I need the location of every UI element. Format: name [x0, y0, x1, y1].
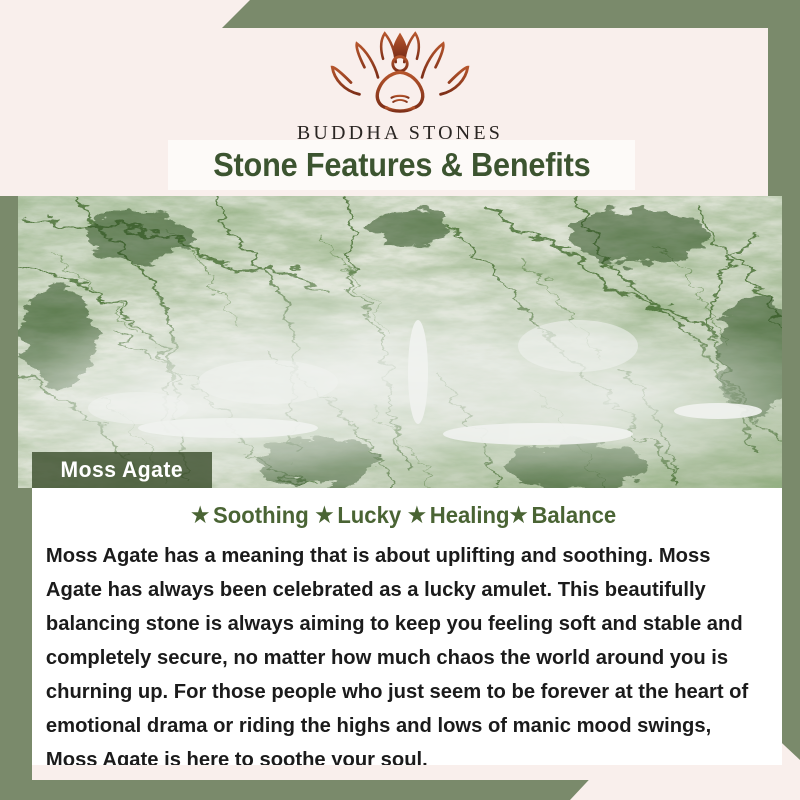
- star-icon: ★: [315, 505, 333, 526]
- feature-soothing-label: Soothing: [213, 502, 309, 529]
- star-icon: ★: [510, 505, 528, 526]
- stone-name-ribbon: Moss Agate: [32, 452, 212, 488]
- feature-healing-label: Healing: [430, 502, 510, 529]
- title-banner: Stone Features & Benefits: [168, 140, 635, 190]
- stone-description-text: Moss Agate has a meaning that is about u…: [40, 539, 763, 777]
- page-title: Stone Features & Benefits: [213, 146, 590, 184]
- features-row: ★ Soothing ★ Lucky ★ Healing ★ Balance: [55, 502, 760, 529]
- star-icon: ★: [191, 505, 209, 526]
- brand-header: BUDDHA STONES: [0, 30, 800, 145]
- moss-agate-stone-photo: [18, 196, 782, 488]
- decorative-band-top-right: [220, 0, 800, 30]
- feature-lucky-label: Lucky: [337, 502, 401, 529]
- infographic-page: BUDDHA STONES Stone Features & Benefits: [0, 0, 800, 800]
- feature-balance-label: Balance: [531, 502, 616, 529]
- stone-name-label: Moss Agate: [61, 457, 184, 483]
- lotus-meditation-icon: [315, 30, 485, 118]
- star-icon: ★: [408, 505, 426, 526]
- content-card: ★ Soothing ★ Lucky ★ Healing ★ Balance M…: [32, 488, 782, 765]
- bottom-strip: [32, 765, 768, 780]
